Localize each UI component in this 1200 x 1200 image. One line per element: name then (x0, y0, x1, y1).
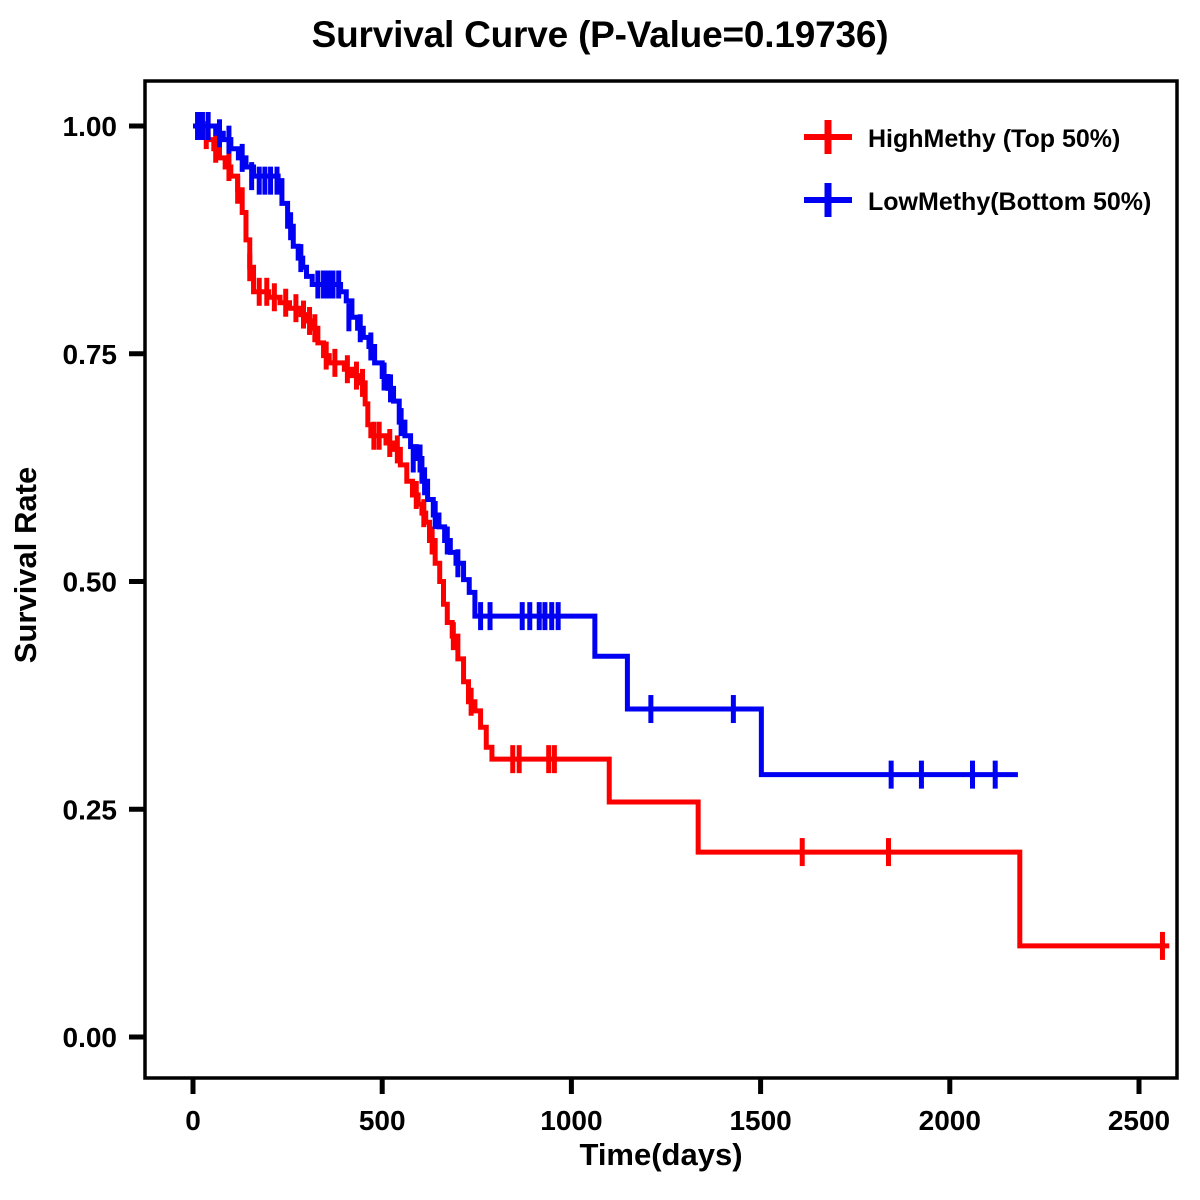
survival-step-line (193, 126, 1018, 775)
x-axis-ticks: 05001000150020002500 (185, 1078, 1170, 1136)
x-tick-label: 1500 (729, 1105, 791, 1136)
survival-curve-figure: Survival Curve (P-Value=0.19736) Surviva… (0, 0, 1200, 1200)
y-tick-label: 0.25 (63, 794, 118, 825)
chart-legend: HighMethy (Top 50%)LowMethy(Bottom 50%) (804, 120, 1151, 217)
survival-step-line (193, 126, 1169, 946)
plot-area: 05001000150020002500 0.000.250.500.751.0… (0, 0, 1200, 1200)
y-tick-label: 0.75 (63, 339, 118, 370)
legend-label: LowMethy(Bottom 50%) (868, 188, 1151, 216)
legend-label: HighMethy (Top 50%) (868, 125, 1120, 153)
series-high-methy (193, 112, 1169, 960)
y-tick-label: 0.50 (63, 567, 118, 598)
y-axis-ticks: 0.000.250.500.751.00 (63, 111, 146, 1053)
series-layer (193, 112, 1169, 960)
x-tick-label: 500 (359, 1105, 406, 1136)
legend-item-high-methy[interactable]: HighMethy (Top 50%) (804, 120, 1120, 154)
x-tick-label: 2000 (919, 1105, 981, 1136)
x-tick-label: 1000 (540, 1105, 602, 1136)
y-tick-label: 0.00 (63, 1022, 118, 1053)
legend-item-low-methy[interactable]: LowMethy(Bottom 50%) (804, 183, 1151, 217)
y-tick-label: 1.00 (63, 111, 118, 142)
x-tick-label: 2500 (1108, 1105, 1170, 1136)
x-tick-label: 0 (185, 1105, 201, 1136)
